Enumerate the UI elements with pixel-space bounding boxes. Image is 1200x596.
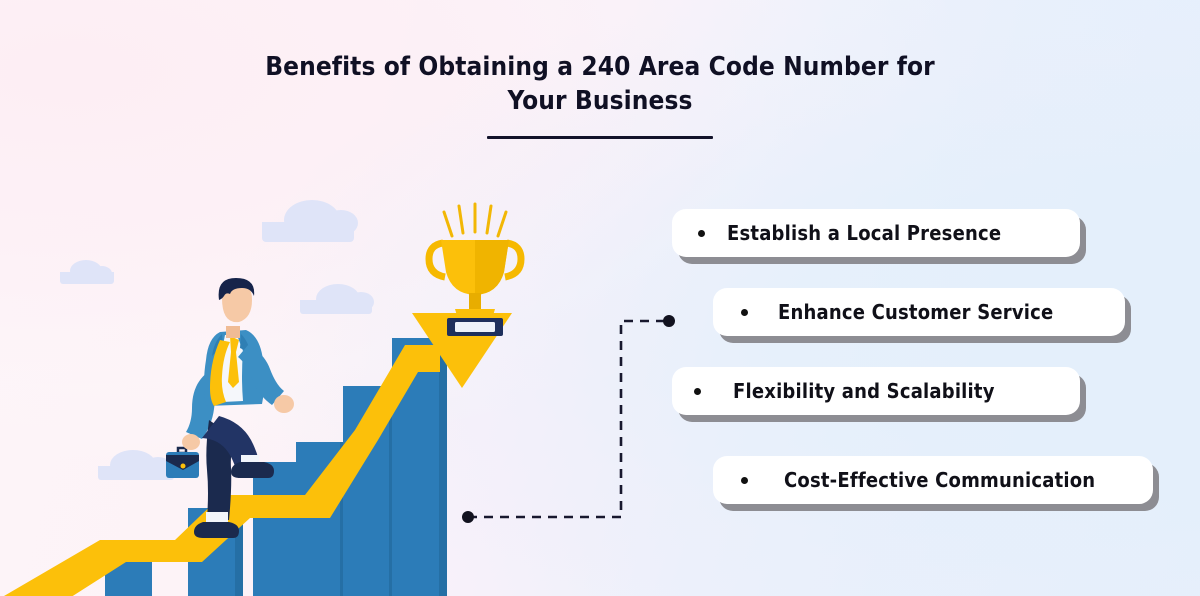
briefcase-icon <box>166 448 199 478</box>
benefit-card-3[interactable]: Flexibility and Scalability <box>672 367 1080 415</box>
bullet-icon-1 <box>698 230 705 237</box>
businessman-hand-right <box>274 395 294 413</box>
connector-path <box>468 321 665 517</box>
briefcase-lock <box>181 464 186 469</box>
bullet-icon-4 <box>741 477 748 484</box>
benefit-label-3: Flexibility and Scalability <box>733 379 995 403</box>
trophy-shine-lines <box>444 204 506 236</box>
bar-7-shade <box>439 338 447 596</box>
connector-dot-bottom-left <box>462 511 474 523</box>
infographic-canvas: Benefits of Obtaining a 240 Area Code Nu… <box>0 0 1200 596</box>
businessman-shoe-right <box>231 462 274 478</box>
benefit-label-1: Establish a Local Presence <box>727 221 1001 245</box>
benefit-card-2[interactable]: Enhance Customer Service <box>713 288 1125 336</box>
bullet-icon-3 <box>694 388 701 395</box>
bar-3 <box>253 462 300 596</box>
businessman-hand-left <box>182 434 200 450</box>
dashed-connector-line <box>455 300 695 540</box>
businessman-neck <box>226 326 240 338</box>
connector-dot-top-right <box>663 315 675 327</box>
benefit-label-4: Cost-Effective Communication <box>784 468 1095 492</box>
bullet-icon-2 <box>741 309 748 316</box>
benefit-card-4[interactable]: Cost-Effective Communication <box>713 456 1153 504</box>
trophy-cup-shade <box>475 240 509 295</box>
benefit-card-1[interactable]: Establish a Local Presence <box>672 209 1080 257</box>
businessman-shoe-left <box>194 522 239 538</box>
benefit-label-2: Enhance Customer Service <box>778 300 1053 324</box>
